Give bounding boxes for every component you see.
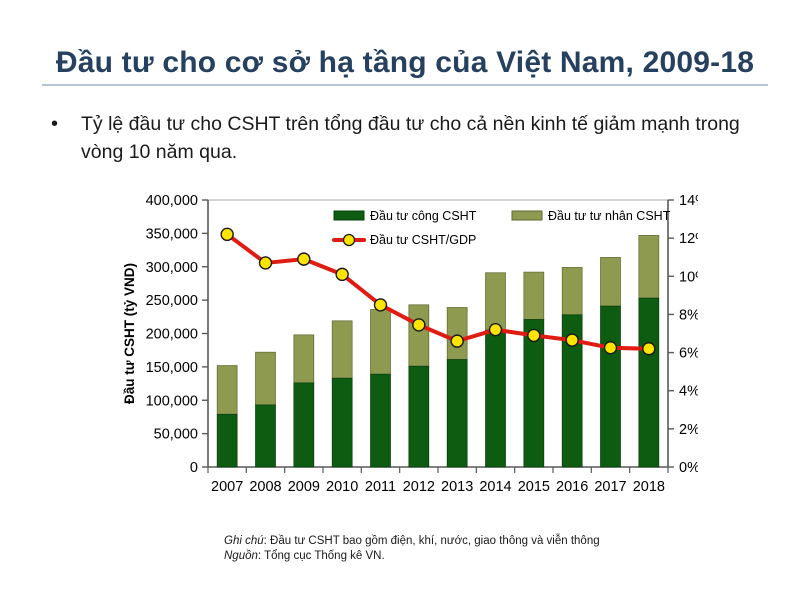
y2-axis-tick-label: 4%	[679, 384, 698, 400]
bar-private-segment	[294, 335, 314, 383]
x-axis-tick-label: 2010	[326, 479, 358, 495]
legend-marker-ratio	[344, 235, 355, 246]
y-axis-tick-label: 300,000	[146, 260, 198, 276]
gdp-ratio-marker	[298, 253, 310, 265]
y2-axis-tick-label: 8%	[679, 307, 698, 323]
bar-public-segment	[371, 374, 391, 467]
y2-axis-tick-label: 10%	[679, 269, 698, 285]
gdp-ratio-marker	[221, 228, 233, 240]
y2-axis-tick-label: 2%	[679, 422, 698, 438]
bar-public-segment	[639, 298, 659, 467]
y-axis-tick-label: 0	[190, 460, 198, 476]
chart-canvas: 050,000100,000150,000200,000250,000300,0…	[112, 190, 698, 500]
footnote-source: Nguồn: Tổng cục Thống kê VN.	[224, 549, 744, 564]
gdp-ratio-marker	[605, 342, 617, 354]
bar-private-segment	[562, 267, 582, 314]
y-axis-tick-label: 400,000	[146, 193, 198, 209]
bar-private-segment	[409, 305, 429, 366]
footnote-note-text: : Đầu tư CSHT bao gồm điện, khí, nước, g…	[264, 535, 600, 547]
gdp-ratio-marker	[566, 334, 578, 346]
bar-public-segment	[332, 378, 352, 467]
y-axis-tick-label: 200,000	[146, 327, 198, 343]
bar-public-segment	[294, 383, 314, 467]
x-axis-tick-label: 2017	[594, 479, 626, 495]
bar-public-segment	[601, 306, 621, 467]
footnote-note-label: Ghi chú	[224, 535, 264, 547]
gdp-ratio-marker	[375, 299, 387, 311]
gdp-ratio-marker	[490, 324, 502, 336]
x-axis-tick-label: 2009	[288, 479, 320, 495]
bar-private-segment	[447, 307, 467, 359]
y-axis-title: Đầu tư CSHT (tỷ VND)	[122, 263, 137, 404]
page-title: Đầu tư cho cơ sở hạ tầng của Việt Nam, 2…	[0, 46, 810, 80]
legend-label-private: Đầu tư tư nhân CSHT	[548, 209, 671, 223]
y-axis-tick-label: 50,000	[154, 427, 198, 443]
y-axis-tick-label: 150,000	[146, 360, 198, 376]
footnote-note: Ghi chú: Đầu tư CSHT bao gồm điện, khí, …	[224, 534, 744, 549]
bar-private-segment	[256, 352, 276, 405]
footnotes: Ghi chú: Đầu tư CSHT bao gồm điện, khí, …	[224, 534, 744, 564]
bar-public-segment	[486, 330, 506, 467]
bar-private-segment	[332, 321, 352, 378]
legend-swatch-public	[334, 211, 364, 220]
infrastructure-investment-chart: 050,000100,000150,000200,000250,000300,0…	[112, 190, 698, 500]
bar-public-segment	[256, 405, 276, 467]
footnote-source-label: Nguồn	[224, 550, 258, 562]
gdp-ratio-marker	[260, 257, 272, 269]
gdp-ratio-marker	[528, 329, 540, 341]
gdp-ratio-marker	[413, 319, 425, 331]
legend-label-ratio: Đầu tư CSHT/GDP	[370, 233, 476, 247]
gdp-ratio-marker	[451, 335, 463, 347]
legend-swatch-private	[512, 211, 542, 220]
y-axis-tick-label: 250,000	[146, 293, 198, 309]
x-axis-tick-label: 2008	[249, 479, 281, 495]
bar-public-segment	[409, 366, 429, 467]
footnote-source-text: : Tổng cục Thống kê VN.	[258, 550, 385, 562]
y2-axis-tick-label: 6%	[679, 346, 698, 362]
bar-private-segment	[486, 273, 506, 330]
title-divider	[42, 84, 768, 86]
legend-label-public: Đầu tư công CSHT	[370, 209, 477, 223]
x-axis-tick-label: 2015	[518, 479, 550, 495]
bar-public-segment	[447, 360, 467, 467]
x-axis-tick-label: 2012	[403, 479, 435, 495]
gdp-ratio-marker	[336, 268, 348, 280]
gdp-ratio-marker	[643, 343, 655, 355]
bullet-list: • Tỷ lệ đầu tư cho CSHT trên tổng đầu tư…	[47, 110, 747, 166]
bar-private-segment	[639, 235, 659, 298]
bullet-marker-icon: •	[47, 110, 81, 138]
x-axis-tick-label: 2016	[556, 479, 588, 495]
y2-axis-tick-label: 12%	[679, 231, 698, 247]
bar-private-segment	[601, 257, 621, 306]
x-axis-tick-label: 2013	[441, 479, 473, 495]
bullet-item-text: Tỷ lệ đầu tư cho CSHT trên tổng đầu tư c…	[81, 110, 741, 166]
x-axis-tick-label: 2011	[365, 479, 396, 495]
y2-axis-tick-label: 14%	[679, 193, 698, 209]
bar-private-segment	[524, 272, 544, 319]
y-axis-tick-label: 100,000	[146, 393, 198, 409]
x-axis-tick-label: 2018	[633, 479, 665, 495]
y2-axis-tick-label: 0%	[679, 460, 698, 476]
bar-private-segment	[217, 366, 237, 415]
bar-private-segment	[371, 309, 391, 374]
bar-public-segment	[217, 414, 237, 467]
y-axis-tick-label: 350,000	[146, 226, 198, 242]
x-axis-tick-label: 2007	[211, 479, 243, 495]
x-axis-tick-label: 2014	[479, 479, 511, 495]
